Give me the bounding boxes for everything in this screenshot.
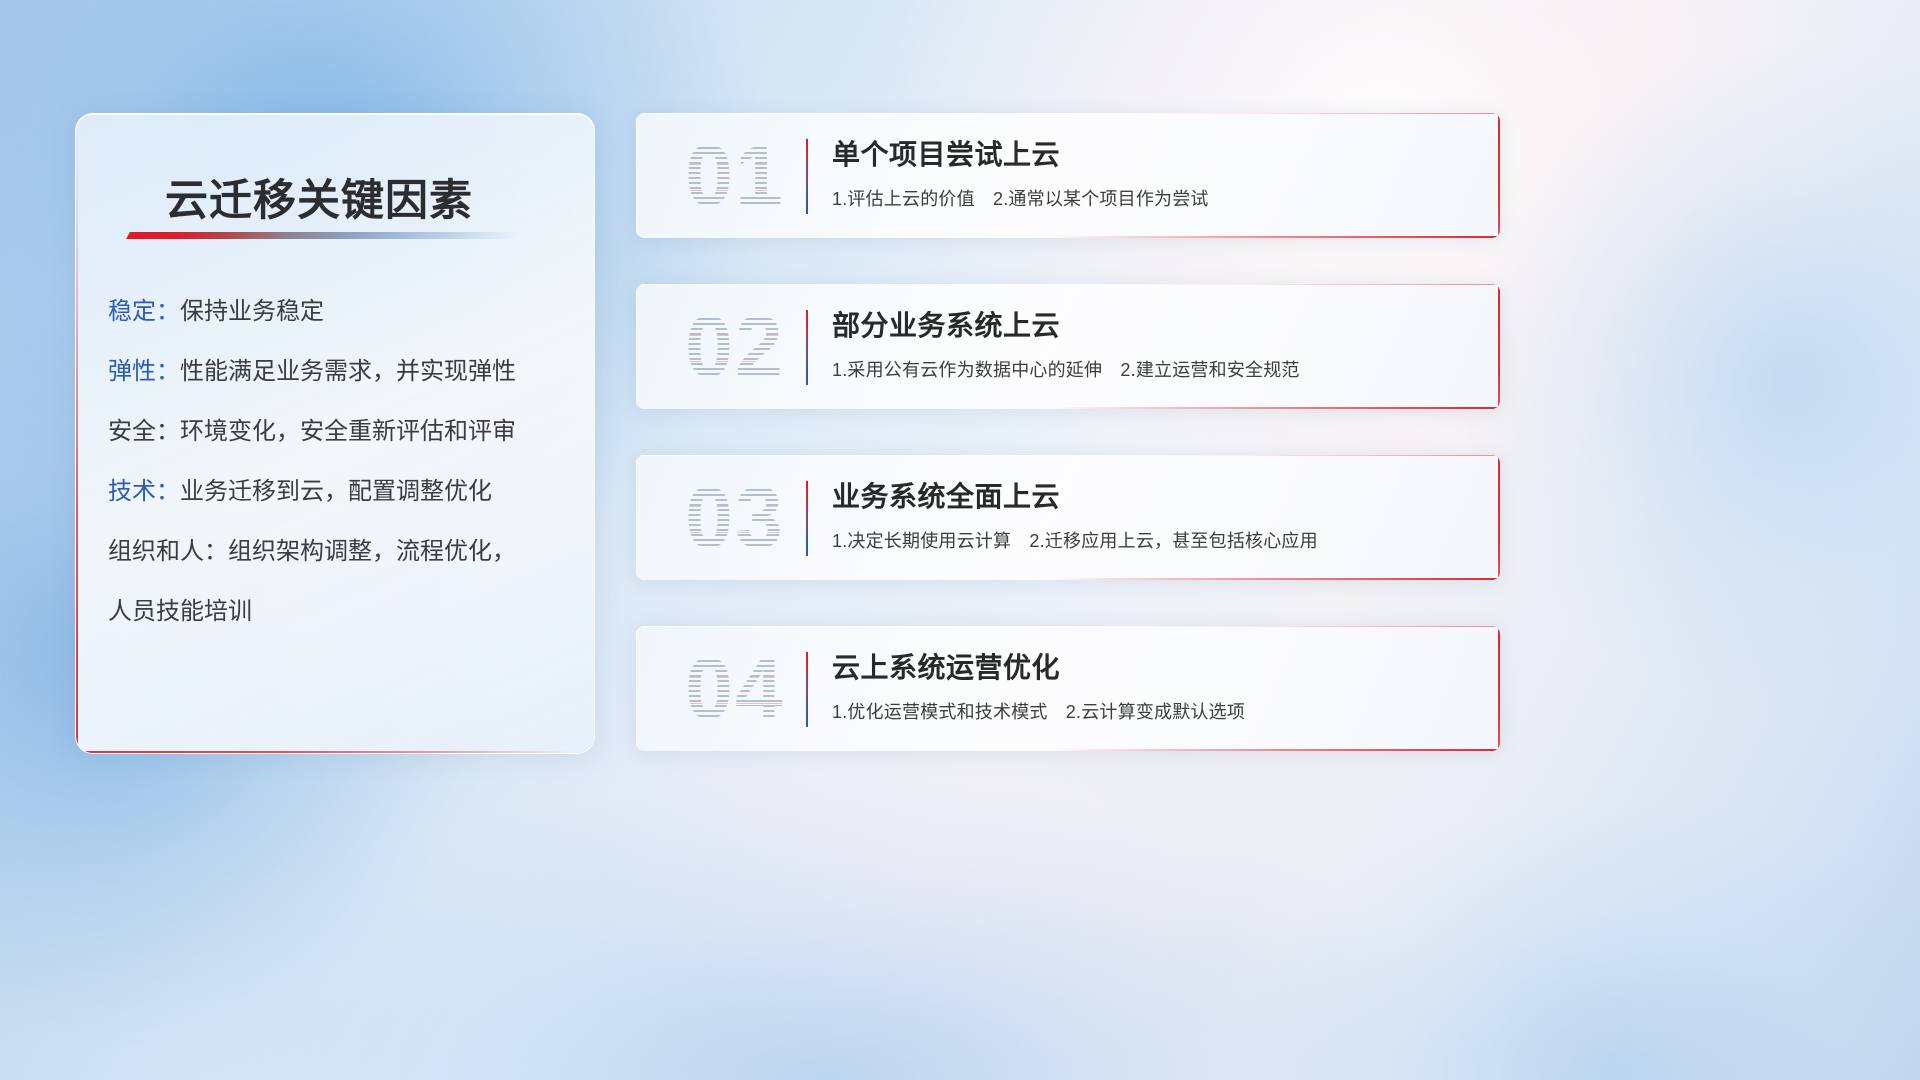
factor-label: 组织和人： bbox=[108, 538, 228, 565]
step-number-watermark-tint: 02 bbox=[660, 298, 810, 396]
factor-text: 业务迁移到云，配置调整优化 bbox=[180, 478, 492, 505]
step-title: 单个项目尝试上云 bbox=[832, 133, 1060, 173]
step-number-watermark-tint: 03 bbox=[660, 469, 810, 567]
card-left-highlight bbox=[636, 113, 637, 238]
step-title: 云上系统运营优化 bbox=[832, 646, 1060, 686]
factor-label: 稳定： bbox=[108, 298, 180, 325]
factor-text: 保持业务稳定 bbox=[180, 298, 324, 325]
list-item: 弹性：性能满足业务需求，并实现弹性 bbox=[108, 360, 568, 384]
factor-text: 环境变化，安全重新评估和评审 bbox=[180, 418, 516, 445]
step-number-watermark-tint: 01 bbox=[660, 127, 810, 225]
factor-text: 性能满足业务需求，并实现弹性 bbox=[180, 358, 516, 385]
step-title: 部分业务系统上云 bbox=[832, 304, 1060, 344]
page-title: 云迁移关键因素 bbox=[165, 166, 473, 228]
step-subtitle: 1.优化运营模式和技术模式 2.云计算变成默认选项 bbox=[832, 698, 1245, 724]
card-right-accent bbox=[1498, 113, 1500, 238]
slide-stage: 云迁移关键因素 稳定：保持业务稳定 弹性：性能满足业务需求，并实现弹性 安全：环… bbox=[0, 0, 1920, 1080]
step-card-01[interactable]: 01 01 单个项目尝试上云 1.评估上云的价值 2.通常以某个项目作为尝试 bbox=[636, 113, 1500, 238]
step-title: 业务系统全面上云 bbox=[832, 475, 1060, 515]
panel-bottom-accent bbox=[76, 751, 570, 753]
card-top-highlight bbox=[636, 113, 1500, 114]
step-divider-bar bbox=[806, 652, 808, 727]
key-factors-panel: 云迁移关键因素 稳定：保持业务稳定 弹性：性能满足业务需求，并实现弹性 安全：环… bbox=[75, 113, 595, 754]
factor-label: 安全： bbox=[108, 418, 180, 445]
step-number-watermark-tint: 04 bbox=[660, 640, 810, 738]
list-item: 人员技能培训 bbox=[108, 600, 568, 624]
card-top-highlight bbox=[636, 455, 1500, 456]
title-underline-rule bbox=[126, 232, 520, 239]
step-card-04[interactable]: 04 04 云上系统运营优化 1.优化运营模式和技术模式 2.云计算变成默认选项 bbox=[636, 626, 1500, 751]
card-right-accent bbox=[1498, 455, 1500, 580]
factor-text: 组织架构调整，流程优化， bbox=[228, 538, 516, 565]
card-bottom-accent bbox=[1051, 578, 1500, 580]
key-factors-list: 稳定：保持业务稳定 弹性：性能满足业务需求，并实现弹性 安全：环境变化，安全重新… bbox=[108, 300, 568, 624]
card-left-highlight bbox=[636, 284, 637, 409]
step-card-03[interactable]: 03 03 业务系统全面上云 1.决定长期使用云计算 2.迁移应用上云，甚至包括… bbox=[636, 455, 1500, 580]
card-bottom-accent bbox=[1051, 407, 1500, 409]
list-item: 稳定：保持业务稳定 bbox=[108, 300, 568, 324]
list-item: 技术：业务迁移到云，配置调整优化 bbox=[108, 480, 568, 504]
step-subtitle: 1.采用公有云作为数据中心的延伸 2.建立运营和安全规范 bbox=[832, 356, 1300, 382]
list-item: 组织和人：组织架构调整，流程优化， bbox=[108, 540, 568, 564]
card-top-highlight bbox=[636, 626, 1500, 627]
card-left-highlight bbox=[636, 455, 637, 580]
step-subtitle: 1.评估上云的价值 2.通常以某个项目作为尝试 bbox=[832, 185, 1209, 211]
card-left-highlight bbox=[636, 626, 637, 751]
factor-text: 人员技能培训 bbox=[108, 598, 252, 625]
card-top-highlight bbox=[636, 284, 1500, 285]
step-divider-bar bbox=[806, 310, 808, 385]
step-subtitle: 1.决定长期使用云计算 2.迁移应用上云，甚至包括核心应用 bbox=[832, 527, 1318, 553]
step-divider-bar bbox=[806, 139, 808, 214]
panel-top-highlight bbox=[90, 114, 594, 115]
factor-label: 弹性： bbox=[108, 358, 180, 385]
list-item: 安全：环境变化，安全重新评估和评审 bbox=[108, 420, 568, 444]
factor-label: 技术： bbox=[108, 478, 180, 505]
card-bottom-accent bbox=[1051, 236, 1500, 238]
step-divider-bar bbox=[806, 481, 808, 556]
card-right-accent bbox=[1498, 284, 1500, 409]
card-bottom-accent bbox=[1051, 749, 1500, 751]
panel-left-accent bbox=[76, 124, 78, 753]
step-card-02[interactable]: 02 02 部分业务系统上云 1.采用公有云作为数据中心的延伸 2.建立运营和安… bbox=[636, 284, 1500, 409]
card-right-accent bbox=[1498, 626, 1500, 751]
